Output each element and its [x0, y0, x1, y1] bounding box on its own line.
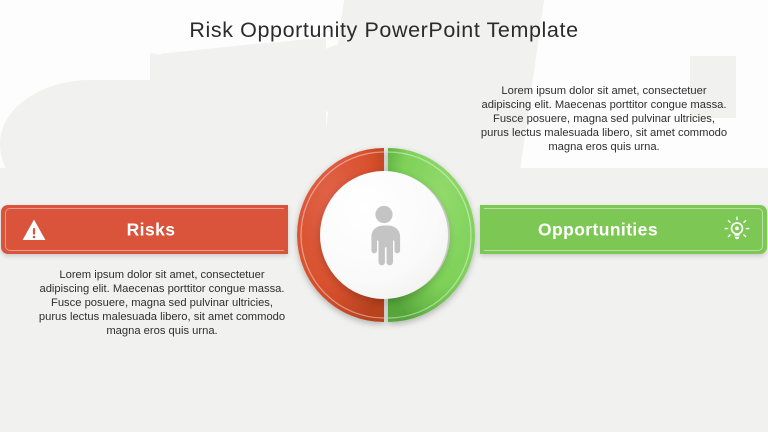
page-title: Risk Opportunity PowerPoint Template [0, 18, 768, 43]
risks-bar[interactable]: Risks [1, 205, 288, 254]
slide-canvas: Risk Opportunity PowerPoint Template Ris… [0, 0, 768, 432]
lightbulb-icon [723, 216, 751, 244]
opportunities-description: Lorem ipsum dolor sit amet, consectetuer… [478, 84, 730, 154]
warning-triangle-icon [21, 217, 47, 243]
hub-inner-circle [320, 171, 448, 299]
risks-description: Lorem ipsum dolor sit amet, consectetuer… [36, 268, 288, 338]
opportunities-bar[interactable]: Opportunities [480, 205, 767, 254]
person-icon [361, 204, 407, 266]
opportunities-label: Opportunities [493, 219, 703, 240]
center-hub [291, 142, 477, 328]
risks-label: Risks [53, 219, 249, 240]
